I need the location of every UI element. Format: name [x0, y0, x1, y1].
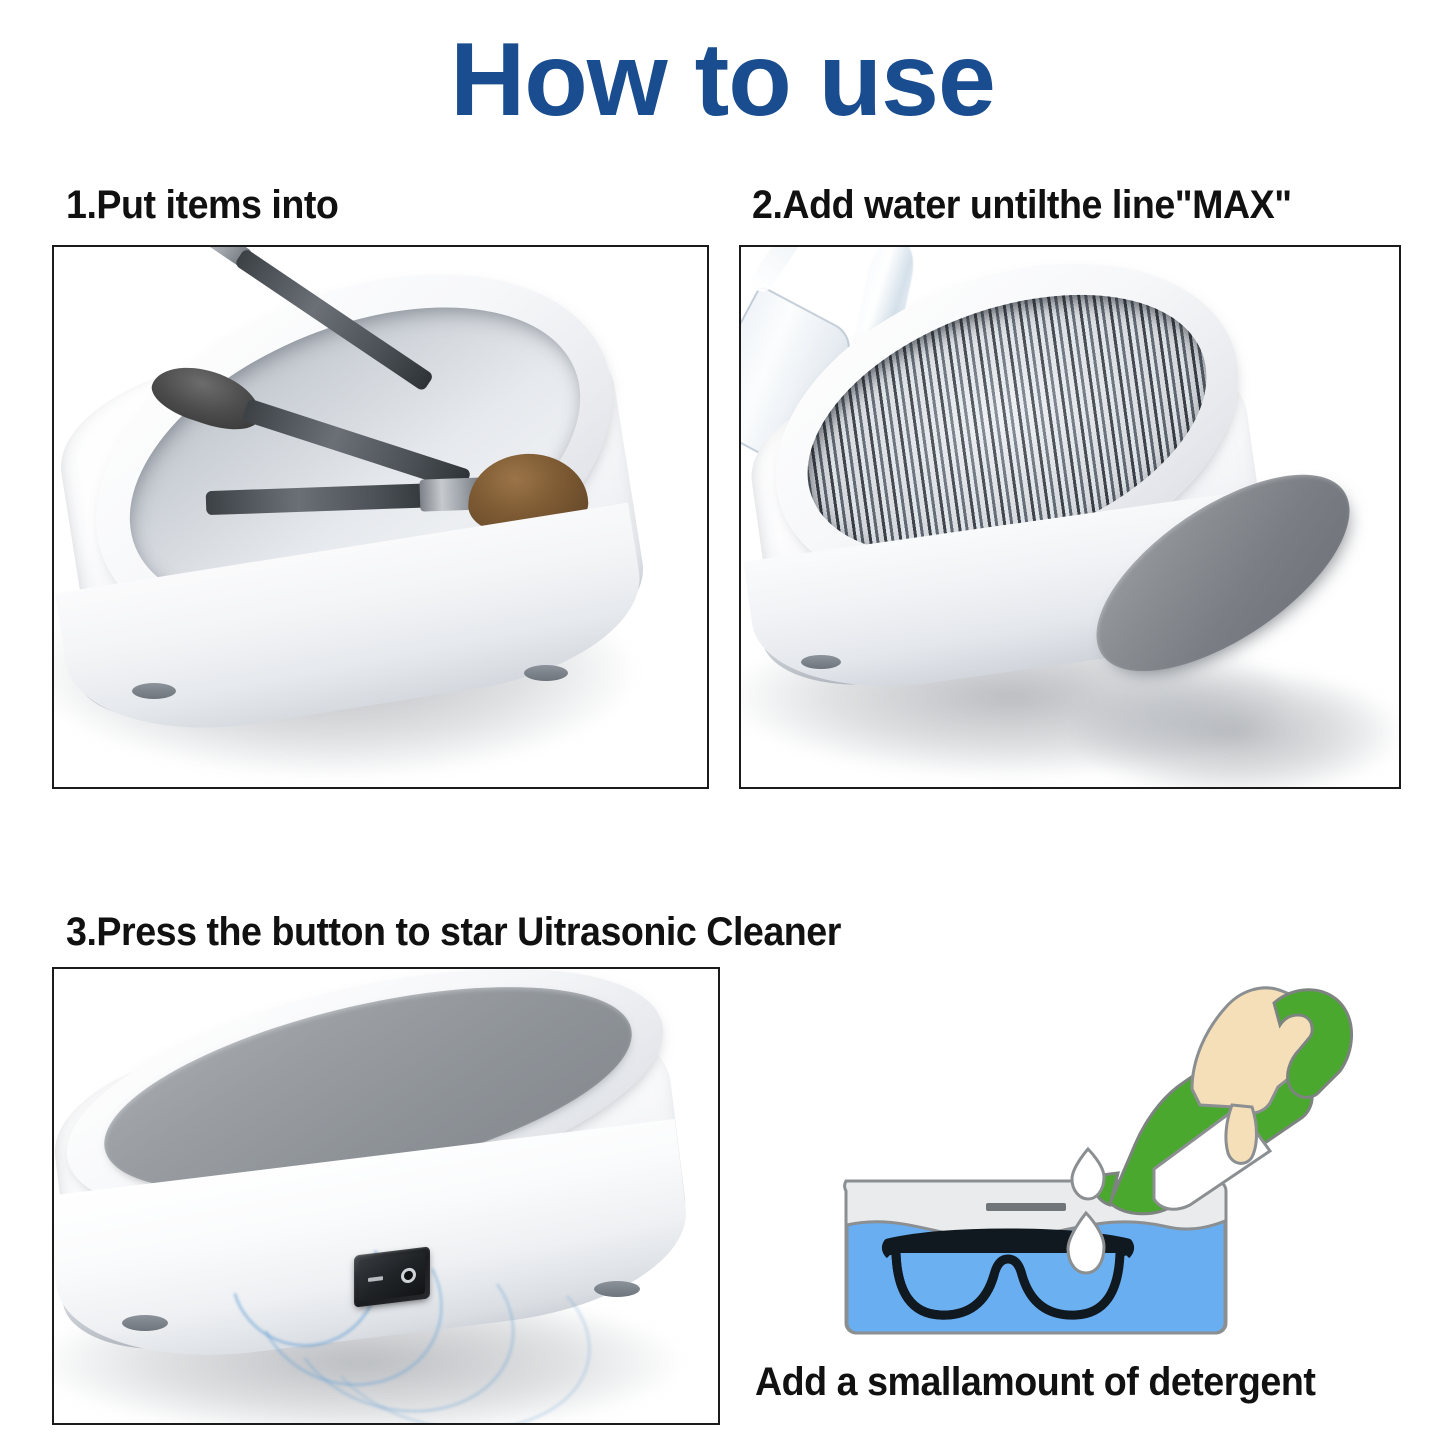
- step-1-caption: 1.Put items into: [66, 183, 338, 228]
- max-line-marker: [986, 1203, 1066, 1211]
- power-switch-rocker[interactable]: [359, 1252, 425, 1302]
- glass-highlight: [747, 245, 819, 296]
- power-on-dash-icon: [368, 1276, 383, 1282]
- detergent-illustration: [838, 955, 1403, 1355]
- step-3-scene: [54, 969, 718, 1423]
- cleaner-foot: [524, 665, 568, 681]
- cleaner-foot: [132, 683, 176, 699]
- lid-shadow: [1071, 667, 1401, 789]
- step-1-image-panel: [52, 245, 709, 789]
- cleaner-foot: [801, 655, 841, 669]
- power-switch[interactable]: [354, 1246, 430, 1307]
- step-1-scene: [54, 247, 707, 787]
- cleaner-foot: [594, 1281, 640, 1297]
- brush-handle: [206, 483, 437, 515]
- step-3-image-panel: [52, 967, 720, 1425]
- infographic-page: How to use 1.Put items into 2.Add water …: [0, 0, 1445, 1445]
- step-2-image-panel: [739, 245, 1401, 789]
- power-off-circle-icon: [401, 1267, 416, 1284]
- cleaner-foot: [122, 1315, 168, 1331]
- page-title: How to use: [0, 22, 1445, 138]
- step-2-caption: 2.Add water untilthe line"MAX": [752, 183, 1292, 228]
- detergent-caption: Add a smallamount of detergent: [755, 1360, 1315, 1405]
- step-3-caption: 3.Press the button to star Uitrasonic Cl…: [66, 910, 841, 955]
- step-2-scene: [741, 247, 1399, 787]
